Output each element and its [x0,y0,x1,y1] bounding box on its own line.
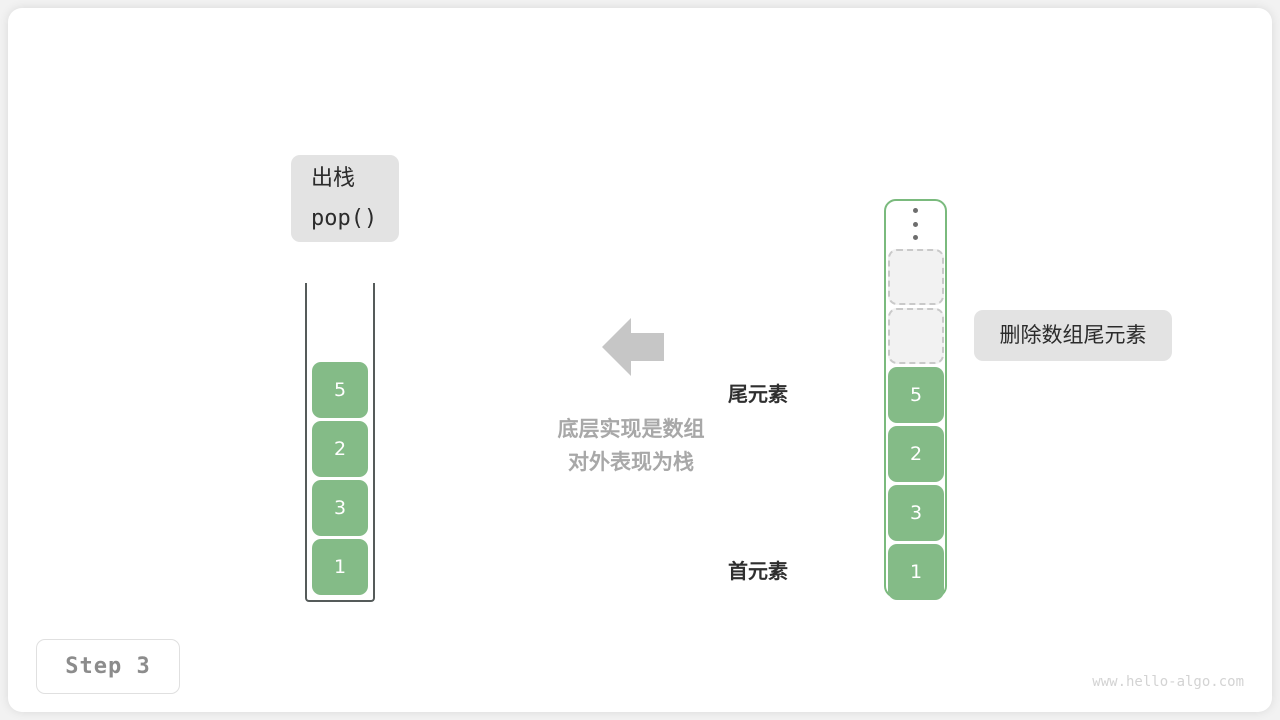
diagram-canvas: 出栈 pop() 5231 底层实现是数组 对外表现为栈 5231 尾元素 首元… [0,0,1280,720]
center-caption-line2: 对外表现为栈 [500,446,762,479]
delete-tail-annotation-text: 删除数组尾元素 [1000,310,1147,361]
array-slot-list: 5231 [888,249,944,600]
center-caption: 底层实现是数组 对外表现为栈 [500,413,762,479]
array-cell: 2 [888,426,944,482]
step-badge: Step 3 [36,639,180,694]
vertical-ellipsis-icon [908,208,922,240]
array-tail-label: 尾元素 [668,378,788,407]
stack-cell-list: 5231 [312,362,368,720]
array-cell: 1 [888,544,944,600]
watermark: www.hello-algo.com [1092,674,1244,690]
stack-cell: 3 [312,480,368,536]
stack-cell: 5 [312,362,368,418]
ellipsis-dot [913,208,918,213]
array-empty-slot [888,308,944,364]
pop-operation-method: pop() [311,199,399,239]
delete-tail-annotation: 删除数组尾元素 [974,310,1172,361]
array-empty-slot [888,249,944,305]
pop-operation-label: 出栈 pop() [291,155,399,242]
array-cell: 3 [888,485,944,541]
array-head-label: 首元素 [668,555,788,584]
stack-cell: 2 [312,421,368,477]
center-caption-line1: 底层实现是数组 [500,413,762,446]
array-cell: 5 [888,367,944,423]
ellipsis-dot [913,222,918,227]
ellipsis-dot [913,235,918,240]
pop-operation-title: 出栈 [311,159,399,199]
stack-cell: 1 [312,539,368,595]
arrow-left-icon [602,318,664,376]
